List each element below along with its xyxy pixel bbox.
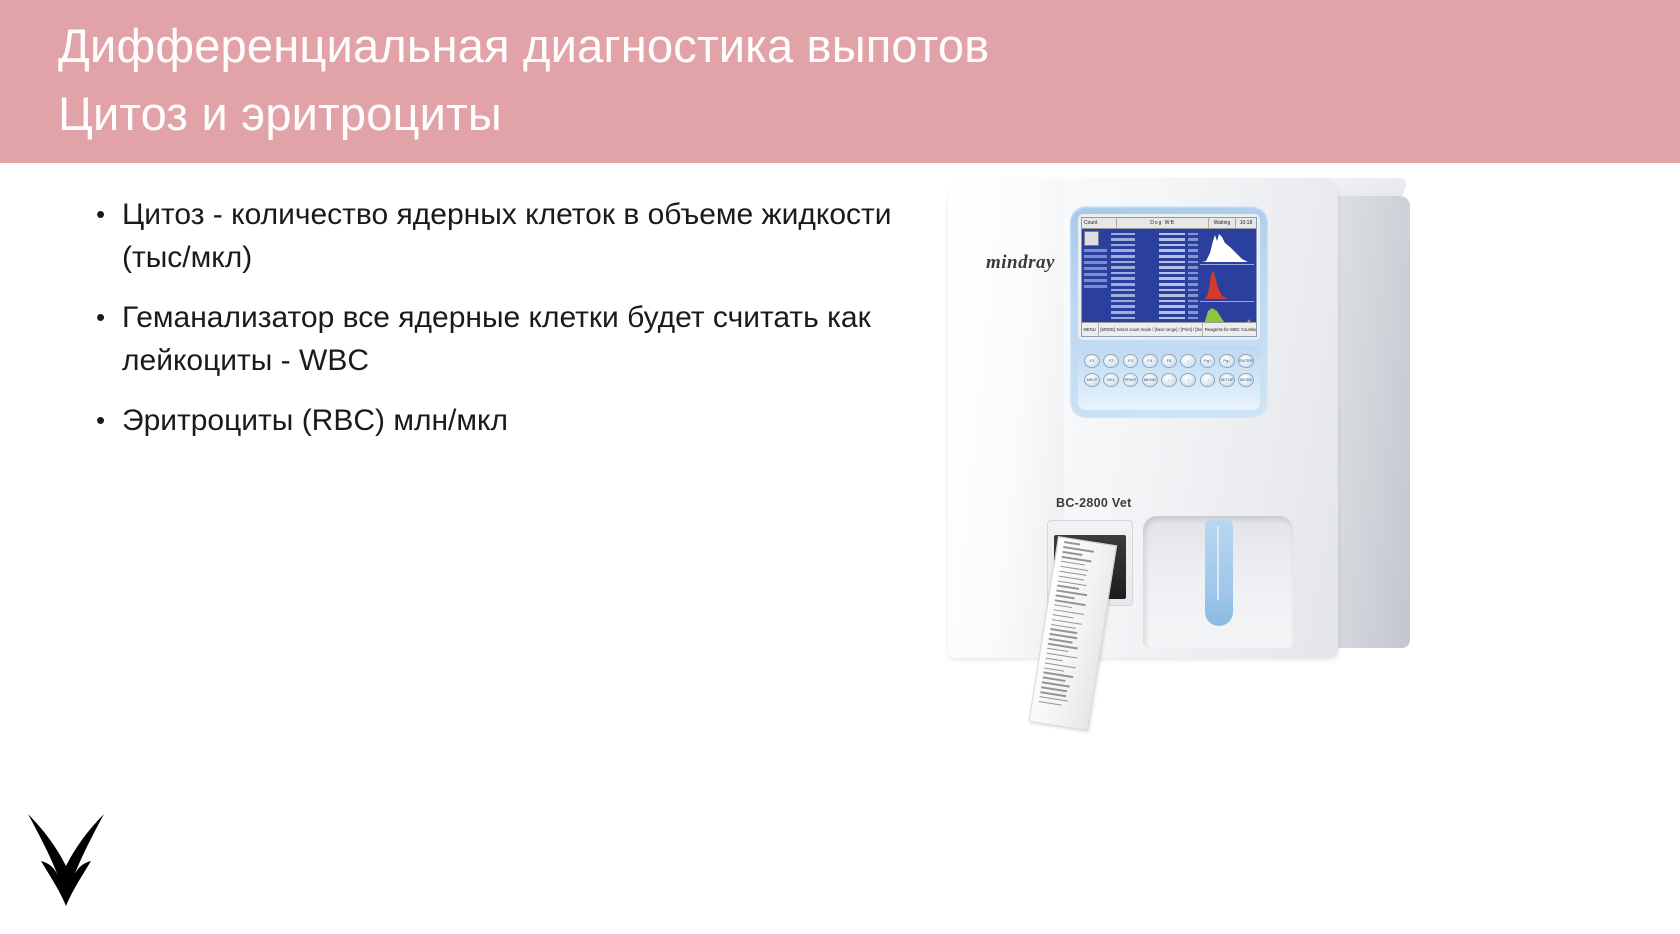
parameter-name [1111,255,1135,258]
list-item: • Геманализатор все ядерные клетки будет… [96,296,906,382]
parameter-unit [1188,305,1198,308]
screen-parameter-row [1111,232,1198,236]
parameter-value [1159,311,1185,314]
printout-line [1062,551,1082,556]
printout-line [1044,667,1064,672]
parameter-name [1111,311,1135,314]
parameter-unit [1188,244,1198,247]
screen-main-area [1082,228,1256,323]
keypad-key-setup[interactable]: SETUP [1219,373,1235,387]
parameter-unit [1188,238,1198,241]
keypad-row-2: HELPDELPRINTMENU←↑→SETUPMODE [1084,373,1254,387]
parameter-unit [1188,277,1198,280]
keypad-key--[interactable]: ← [1161,373,1177,387]
list-item-text: Цитоз - количество ядерных клеток в объе… [122,193,906,279]
v-logo [22,806,112,910]
device-side-panel [1326,196,1410,648]
keypad-key--[interactable]: → [1200,373,1216,387]
screen-menu-softkey[interactable]: MENU [1082,323,1099,336]
parameter-name [1111,283,1135,286]
keypad-key-mode[interactable]: MODE [1238,373,1254,387]
sample-bay [1143,516,1293,648]
page-title: Дифференциальная диагностика выпотов Цит… [58,12,1258,148]
screen-parameter-row [1111,299,1198,303]
screen-parameter-row [1111,260,1198,264]
keypad-key-f1[interactable]: F1 [1084,354,1100,368]
keypad-key-del[interactable]: DEL [1103,373,1119,387]
sample-info-line [1084,279,1107,282]
parameter-unit [1188,317,1198,320]
parameter-unit [1188,233,1198,236]
screen-frame: Count Dog WB Waiting 10:18 [1078,214,1260,340]
keypad-key-f2[interactable]: F2 [1103,354,1119,368]
screen-parameter-row [1111,288,1198,292]
printout-line [1064,541,1080,545]
title-band: Дифференциальная диагностика выпотов Цит… [0,0,1680,163]
parameter-value [1159,249,1185,252]
list-item-text: Геманализатор все ядерные клетки будет с… [122,296,906,382]
screen-histogram-panel [1200,228,1256,323]
screen-time-label: 10:18 [1236,218,1256,228]
rbc-histogram [1200,268,1254,302]
parameter-name [1111,294,1135,297]
parameter-unit [1188,283,1198,286]
keypad-key--[interactable]: ↑ [1180,373,1196,387]
bullet-dot-icon: • [96,193,122,236]
keypad-key-f5[interactable]: F5 [1161,354,1177,368]
screen-parameter-row [1111,316,1198,320]
parameter-unit [1188,249,1198,252]
probe-needle [1217,526,1219,600]
keypad-row-1: F1F2F3F4F5↓Pg↑Pg↓ENTER [1084,354,1254,368]
printout-line [1046,657,1063,661]
printout-line [1054,604,1072,608]
screen-hint-text: [MODE] Select count mode / [Next range] … [1099,323,1204,336]
parameter-value [1159,300,1185,303]
screen-parameter-row [1111,305,1198,309]
screen-mode-label: Dog WB [1117,218,1209,228]
keypad-key-f4[interactable]: F4 [1142,354,1158,368]
screen-parameter-row [1111,271,1198,275]
printout-line [1047,648,1068,653]
parameter-name [1111,238,1135,241]
list-item: • Эритроциты (RBC) млн/мкл [96,399,906,442]
sample-info-line [1084,261,1107,264]
sample-info-line [1084,255,1107,258]
screen-parameter-row [1111,266,1198,270]
screen-parameter-row [1111,238,1198,242]
screen-parameter-list [1111,228,1200,323]
screen-parameter-row [1111,254,1198,258]
patient-avatar-icon [1084,231,1099,246]
parameter-name [1111,317,1135,320]
wbc-histogram [1200,231,1254,265]
sample-info-line [1084,273,1107,276]
keypad-key-f3[interactable]: F3 [1123,354,1139,368]
keypad-key-enter[interactable]: ENTER [1238,354,1254,368]
parameter-value [1159,244,1185,247]
parameter-value [1159,238,1185,241]
screen-bezel: Count Dog WB Waiting 10:18 [1070,206,1268,418]
parameter-value [1159,255,1185,258]
parameter-name [1111,261,1135,264]
parameter-name [1111,305,1135,308]
parameter-unit [1188,289,1198,292]
printout-line [1039,701,1062,706]
mindray-brand-logo: mindray [986,252,1055,274]
screen-parameter-row [1111,282,1198,286]
printout-line [1043,677,1066,682]
parameter-value [1159,305,1185,308]
screen-parameter-row [1111,249,1198,253]
parameter-unit [1188,255,1198,258]
parameter-value [1159,294,1185,297]
screen-status-label: Waiting [1209,218,1236,228]
sample-info-line [1084,267,1107,270]
parameter-name [1111,249,1135,252]
keypad-key--[interactable]: ↓ [1180,354,1196,368]
parameter-name [1111,272,1135,275]
list-item: • Цитоз - количество ядерных клеток в об… [96,193,906,279]
screen-parameter-row [1111,294,1198,298]
parameter-unit [1188,294,1198,297]
keypad-key-help[interactable]: HELP [1084,373,1100,387]
keypad-key-menu[interactable]: MENU [1142,373,1158,387]
parameter-name [1111,277,1135,280]
parameter-unit [1188,266,1198,269]
parameter-name [1111,300,1135,303]
screen-footer-bar: MENU [MODE] Select count mode / [Next ra… [1082,322,1256,336]
screen-reagent-status: Reagents for WBC Counting [1203,323,1256,336]
hematology-analyzer-image: mindray BC-2800 Vet Count Dog WB Waiting… [930,168,1430,698]
analyzer-screen[interactable]: Count Dog WB Waiting 10:18 [1081,217,1257,337]
sample-info-line [1084,285,1107,288]
parameter-name [1111,266,1135,269]
sample-info-line [1084,249,1107,252]
screen-parameter-row [1111,243,1198,247]
screen-count-label: Count [1082,218,1117,228]
parameter-value [1159,266,1185,269]
parameter-value [1159,277,1185,280]
printout-line [1053,614,1074,619]
sample-probe[interactable] [1205,520,1233,626]
printout-line [1057,585,1079,590]
bullet-list: • Цитоз - количество ядерных клеток в об… [96,193,906,459]
parameter-value [1159,317,1185,320]
parameter-value [1159,233,1185,236]
bullet-dot-icon: • [96,399,122,442]
parameter-unit [1188,261,1198,264]
screen-sample-info-panel [1082,228,1111,323]
parameter-name [1111,244,1135,247]
parameter-value [1159,283,1185,286]
parameter-value [1159,272,1185,275]
screen-parameter-row [1111,310,1198,314]
screen-parameter-row [1111,277,1198,281]
keypad-key-pg-[interactable]: Pg↓ [1219,354,1235,368]
device-keypad[interactable]: F1F2F3F4F5↓Pg↑Pg↓ENTER HELPDELPRINTMENU←… [1078,346,1260,410]
parameter-value [1159,289,1185,292]
printout-line [1061,561,1085,566]
parameter-value [1159,261,1185,264]
printout-line [1056,595,1075,599]
parameter-unit [1188,272,1198,275]
keypad-key-print[interactable]: PRINT [1123,373,1139,387]
parameter-unit [1188,300,1198,303]
parameter-name [1111,233,1135,236]
bullet-dot-icon: • [96,296,122,339]
keypad-key-pg-[interactable]: Pg↑ [1200,354,1216,368]
parameter-unit [1188,311,1198,314]
list-item-text: Эритроциты (RBC) млн/мкл [122,399,906,442]
device-model-label: BC-2800 Vet [1056,496,1132,510]
parameter-name [1111,289,1135,292]
